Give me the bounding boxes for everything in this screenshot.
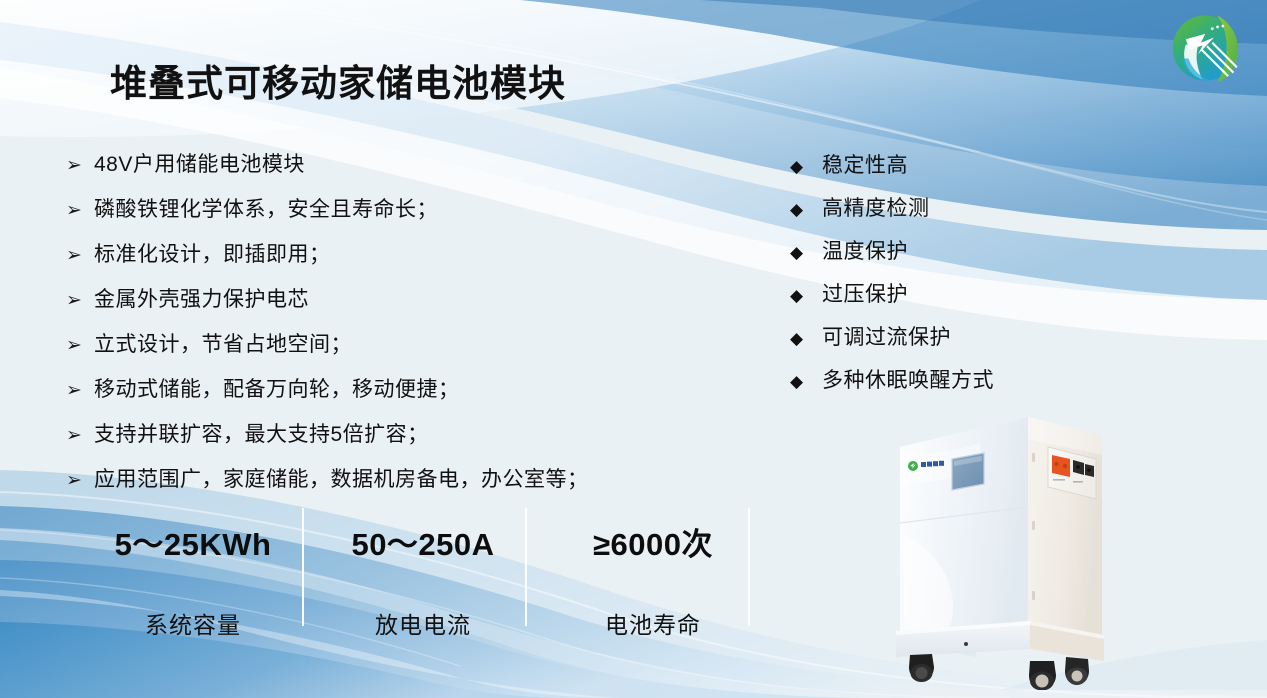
list-item-label: 温度保护 (822, 235, 908, 265)
arrow-bullet-icon: ➢ (66, 336, 94, 355)
list-item-label: 金属外壳强力保护电芯 (94, 283, 309, 313)
list-item-label: 磷酸铁锂化学体系，安全且寿命长； (94, 193, 438, 223)
caster-wheels (909, 654, 1089, 690)
diamond-bullet-icon: ◆ (790, 158, 822, 175)
feature-list-left: ➢ 48V户用储能电池模块 ➢ 磷酸铁锂化学体系，安全且寿命长； ➢ 标准化设计… (66, 148, 706, 508)
arrow-bullet-icon: ➢ (66, 201, 94, 220)
diamond-bullet-icon: ◆ (790, 244, 822, 261)
stat-discharge-current: 50～250A 放电电流 (308, 505, 538, 630)
diamond-bullet-icon: ◆ (790, 201, 822, 218)
list-item: ➢ 移动式储能，配备万向轮，移动便捷； (66, 373, 706, 418)
list-item: ➢ 立式设计，节省占地空间； (66, 328, 706, 373)
list-item-label: 高精度检测 (822, 192, 930, 222)
list-item: ➢ 标准化设计，即插即用； (66, 238, 706, 283)
arrow-bullet-icon: ➢ (66, 291, 94, 310)
list-item: ➢ 支持并联扩容，最大支持5倍扩容； (66, 418, 706, 463)
list-item: ➢ 应用范围广，家庭储能，数据机房备电，办公室等； (66, 463, 706, 508)
battery-cabinet-illustration (880, 395, 1140, 690)
feature-list-right: ◆ 稳定性高 ◆ 高精度检测 ◆ 温度保护 ◆ 过压保护 ◆ 可调过流保护 ◆ … (790, 149, 1110, 407)
display-screen (952, 453, 984, 490)
list-item-label: 过压保护 (822, 278, 908, 308)
stat-label: 系统容量 (145, 606, 241, 640)
list-item-label: 多种休眠唤醒方式 (822, 364, 994, 394)
arrow-bullet-icon: ➢ (66, 381, 94, 400)
list-item-label: 应用范围广，家庭储能，数据机房备电，办公室等； (94, 463, 589, 493)
list-item: ◆ 高精度检测 (790, 192, 1110, 235)
slide-root: 堆叠式可移动家储电池模块 ➢ 48V户用储能电池模块 ➢ 磷酸铁锂化学体系，安全… (0, 0, 1267, 698)
list-item-label: 标准化设计，即插即用； (94, 238, 331, 268)
list-item: ◆ 温度保护 (790, 235, 1110, 278)
list-item: ➢ 磷酸铁锂化学体系，安全且寿命长； (66, 193, 706, 238)
list-item-label: 可调过流保护 (822, 321, 951, 351)
list-item-label: 支持并联扩容，最大支持5倍扩容； (94, 418, 429, 448)
diamond-bullet-icon: ◆ (790, 287, 822, 304)
product-image (880, 395, 1140, 690)
arrow-bullet-icon: ➢ (66, 156, 94, 175)
stat-label: 放电电流 (375, 606, 471, 640)
stat-capacity: 5～25KWh 系统容量 (78, 505, 308, 630)
list-item-label: 立式设计，节省占地空间； (94, 328, 352, 358)
arrow-bullet-icon: ➢ (66, 426, 94, 445)
list-item: ➢ 48V户用储能电池模块 (66, 148, 706, 193)
list-item: ◆ 可调过流保护 (790, 321, 1110, 364)
arrow-bullet-icon: ➢ (66, 246, 94, 265)
stat-value: 5～25KWh (115, 519, 272, 564)
page-title: 堆叠式可移动家储电池模块 (110, 53, 566, 107)
list-item: ◆ 稳定性高 (790, 149, 1110, 192)
diamond-bullet-icon: ◆ (790, 373, 822, 390)
stat-cycle-life: ≥6000次 电池寿命 (538, 505, 768, 630)
list-item: ◆ 过压保护 (790, 278, 1110, 321)
arrow-bullet-icon: ➢ (66, 471, 94, 490)
list-item-label: 稳定性高 (822, 149, 908, 179)
company-logo (1163, 4, 1251, 92)
stat-value: ≥6000次 (593, 519, 713, 564)
diamond-bullet-icon: ◆ (790, 330, 822, 347)
company-logo-icon (1163, 4, 1251, 92)
list-item: ➢ 金属外壳强力保护电芯 (66, 283, 706, 328)
list-item-label: 移动式储能，配备万向轮，移动便捷； (94, 373, 460, 403)
stats-strip: 5～25KWh 系统容量 50～250A 放电电流 ≥6000次 电池寿命 (78, 505, 768, 630)
list-item-label: 48V户用储能电池模块 (94, 148, 305, 178)
stat-label: 电池寿命 (605, 606, 701, 640)
stat-value: 50～250A (351, 519, 494, 564)
